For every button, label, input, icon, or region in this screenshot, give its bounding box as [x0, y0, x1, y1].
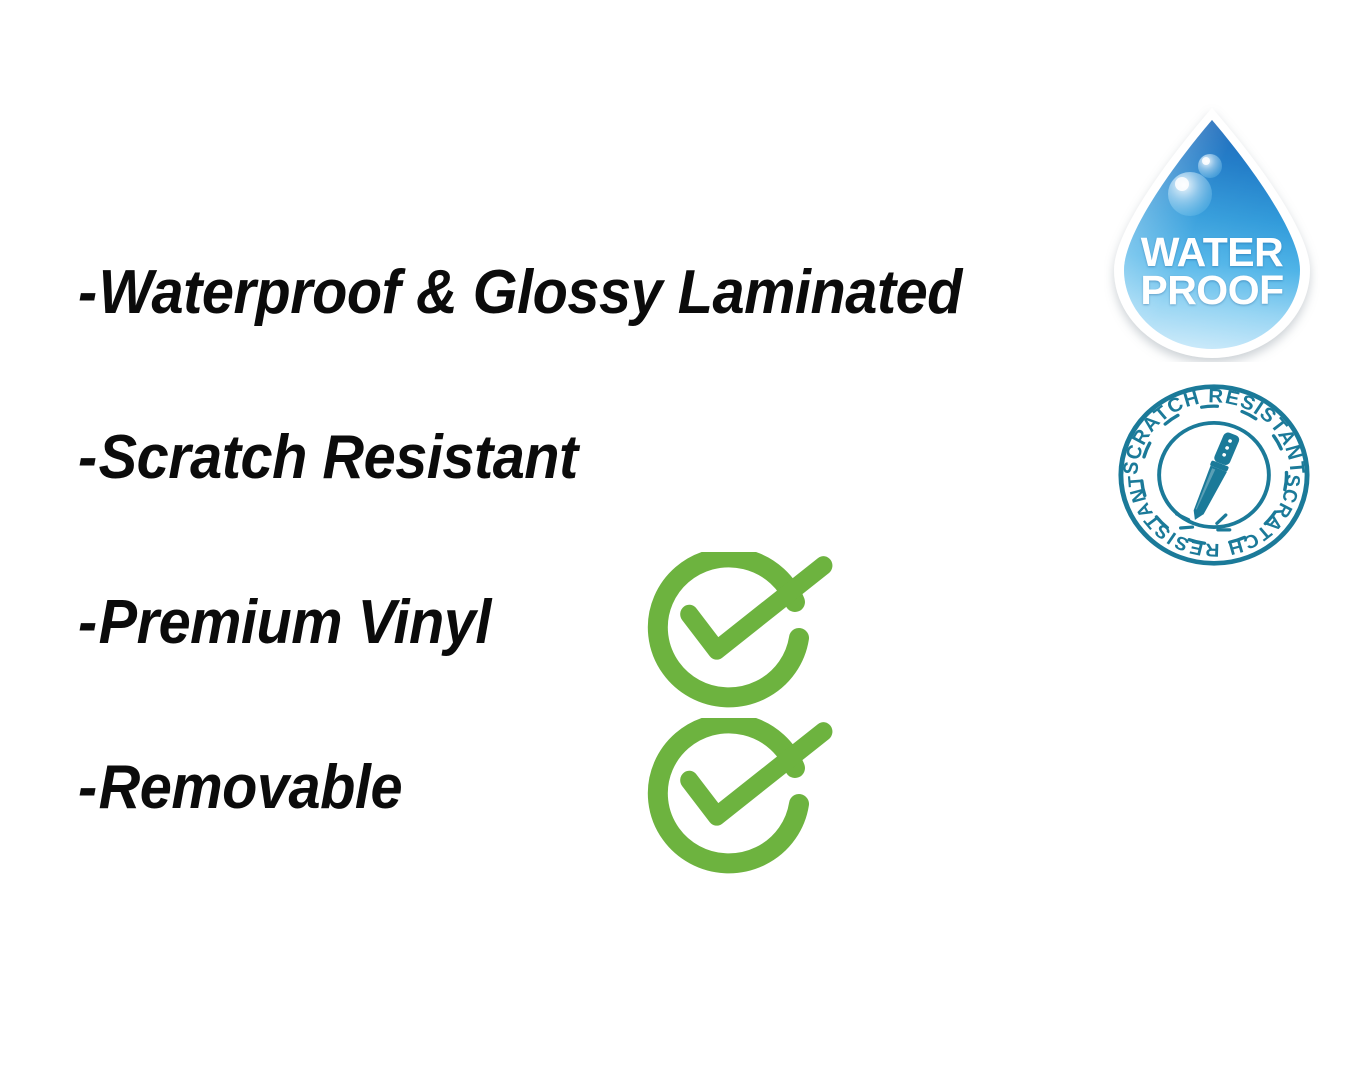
feature-label: Premium Vinyl: [99, 588, 491, 657]
water-drop-icon: [1104, 104, 1320, 362]
scratch-resistant-seal: SCRATCH RESISTANT SCRATCH RESISTANT: [1116, 382, 1312, 568]
check-circle: [658, 557, 799, 697]
circle-check-icon: [638, 552, 838, 712]
feature-dash: -: [78, 427, 97, 489]
check-mark-removable: [638, 718, 838, 878]
bubble-large-highlight: [1175, 177, 1189, 191]
feature-item-waterproof: -Waterproof & Glossy Laminated: [78, 262, 962, 324]
feature-item-removable: -Removable: [78, 757, 402, 819]
feature-dash: -: [78, 262, 97, 324]
feature-label: Scratch Resistant: [99, 423, 578, 492]
scratch-resistant-badge: SCRATCH RESISTANT SCRATCH RESISTANT: [1116, 382, 1312, 568]
circle-check-icon: [638, 718, 838, 878]
feature-label: Waterproof & Glossy Laminated: [99, 258, 962, 327]
feature-dash: -: [78, 592, 97, 654]
feature-item-premium-vinyl: -Premium Vinyl: [78, 592, 491, 654]
feature-dash: -: [78, 757, 97, 819]
bubble-large-icon: [1168, 172, 1212, 216]
check-circle: [658, 723, 799, 863]
knife-icon: [1188, 431, 1242, 524]
waterproof-badge: WATER PROOF: [1104, 104, 1320, 362]
feature-list-graphic: -Waterproof & Glossy Laminated -Scratch …: [0, 0, 1359, 1080]
bubble-small-highlight: [1202, 157, 1210, 165]
check-mark-premium-vinyl: [638, 552, 838, 712]
feature-label: Removable: [99, 753, 402, 822]
bubble-small-icon: [1198, 154, 1222, 178]
feature-item-scratch-resistant: -Scratch Resistant: [78, 427, 578, 489]
